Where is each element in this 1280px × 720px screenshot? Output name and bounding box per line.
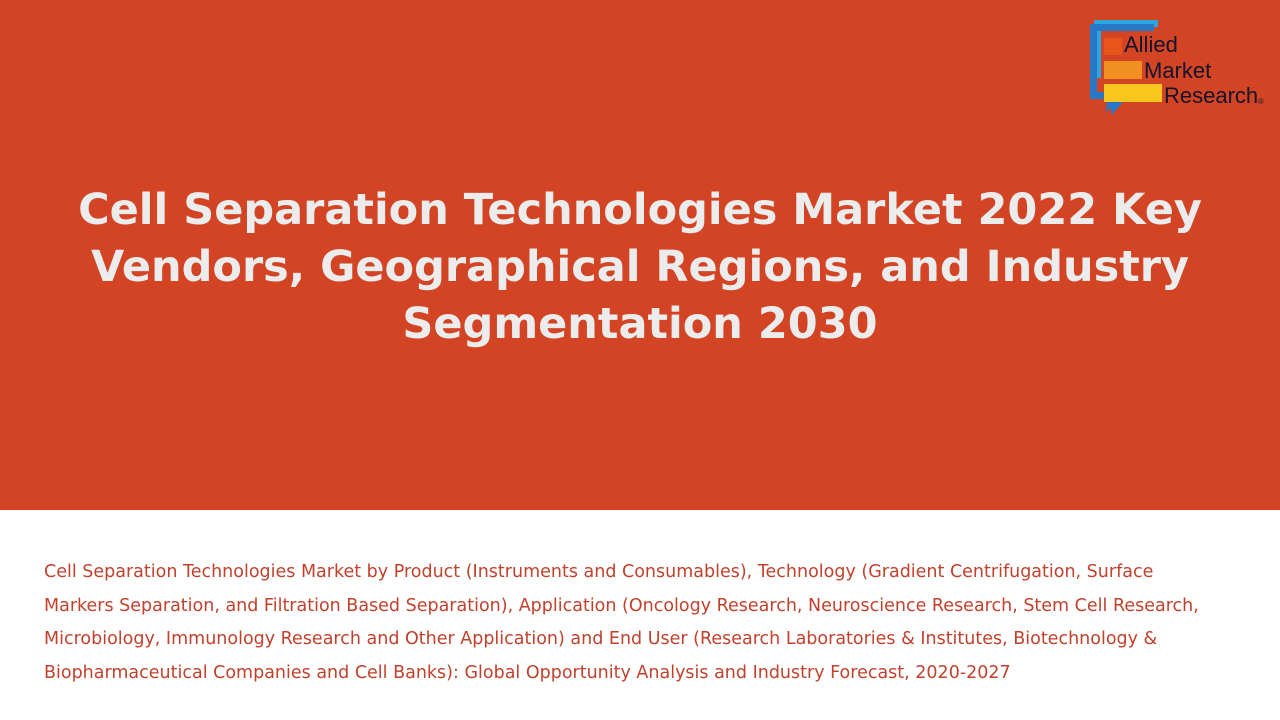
logo-bar-2 <box>1104 61 1142 79</box>
hero-banner: Allied Market Research ® Cell Separation… <box>0 0 1280 510</box>
logo-icon: Allied Market Research ® <box>1086 16 1268 116</box>
allied-market-research-logo[interactable]: Allied Market Research ® <box>1086 16 1268 116</box>
article-description: Cell Separation Technologies Market by P… <box>44 556 1224 690</box>
logo-bar-3 <box>1104 84 1162 102</box>
logo-bar-1 <box>1104 38 1122 55</box>
logo-text-market: Market <box>1144 58 1211 83</box>
logo-text-research: Research <box>1164 83 1258 108</box>
logo-registered-mark: ® <box>1258 97 1264 106</box>
article-page: Allied Market Research ® Cell Separation… <box>0 0 1280 720</box>
logo-text-allied: Allied <box>1124 32 1178 57</box>
page-title: Cell Separation Technologies Market 2022… <box>40 182 1240 353</box>
